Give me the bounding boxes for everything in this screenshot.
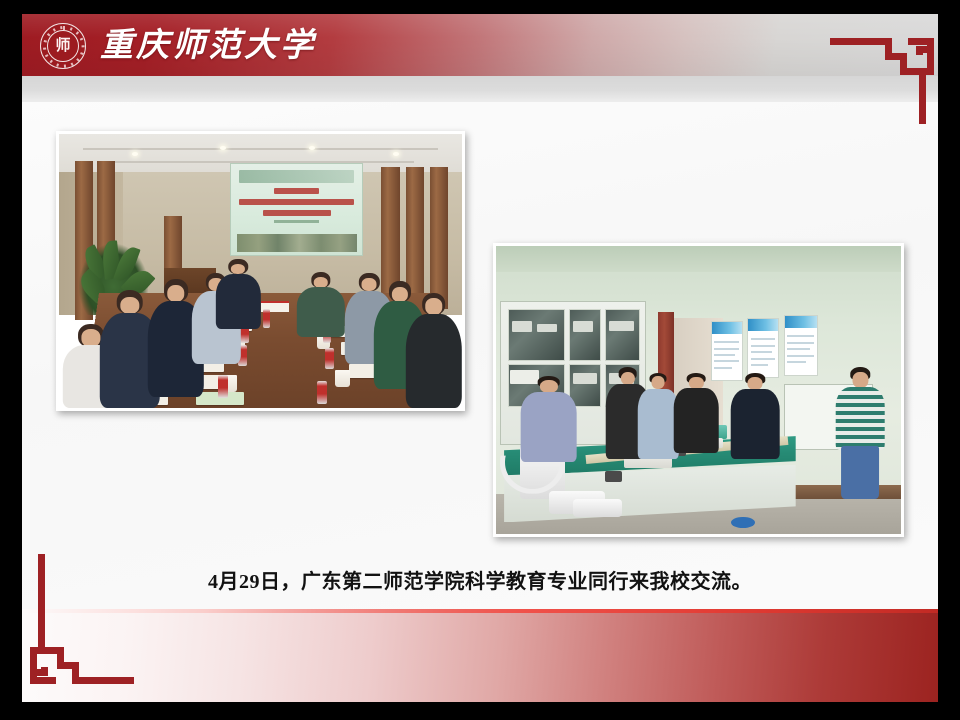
- seal-center-glyph: 师: [53, 36, 73, 56]
- projected-institute-logo: [239, 170, 354, 183]
- meeting-room-photo-content: [59, 134, 462, 408]
- projected-line-3: [263, 210, 331, 215]
- university-seal-icon: 师: [40, 23, 86, 69]
- university-name-title: 重庆师范大学: [100, 24, 316, 68]
- visitor: [674, 373, 719, 454]
- projected-line-2: [239, 199, 354, 204]
- laboratory-visit-photo: [493, 243, 904, 537]
- lab-apparatus: [605, 471, 621, 483]
- slide-canvas: 师 重庆师范大学: [22, 14, 938, 702]
- attendee: [297, 271, 345, 337]
- wall-pillar: [430, 167, 448, 309]
- projection-screen: [230, 163, 363, 256]
- projected-photo-strip: [237, 234, 358, 252]
- slide-stage: 师 重庆师范大学: [0, 0, 960, 720]
- slide-caption: 4月29日，广东第二师范学院科学教育专业同行来我校交流。: [22, 565, 938, 594]
- visitor: [520, 376, 577, 462]
- slide-footer-band: [22, 609, 938, 702]
- host-presenter: [731, 373, 780, 459]
- visitor: [638, 373, 679, 459]
- attendee: [406, 290, 462, 408]
- attendee: [216, 257, 260, 328]
- lab-ceiling: [496, 246, 901, 272]
- meeting-room-photo: [56, 131, 465, 411]
- projected-line-1: [274, 188, 319, 193]
- corner-ornament-icon: [30, 554, 134, 684]
- lab-hose-nozzle: [573, 499, 622, 516]
- visitor: [836, 367, 885, 499]
- corner-ornament-icon: [830, 38, 934, 124]
- header-underline-strip: [22, 76, 938, 102]
- projected-date: [274, 220, 319, 223]
- footer-accent-line: [22, 609, 938, 613]
- laboratory-visit-photo-content: [496, 246, 901, 534]
- slide-header-band: 师 重庆师范大学: [22, 14, 938, 76]
- lab-poster: [784, 315, 818, 375]
- lab-poster: [747, 318, 779, 378]
